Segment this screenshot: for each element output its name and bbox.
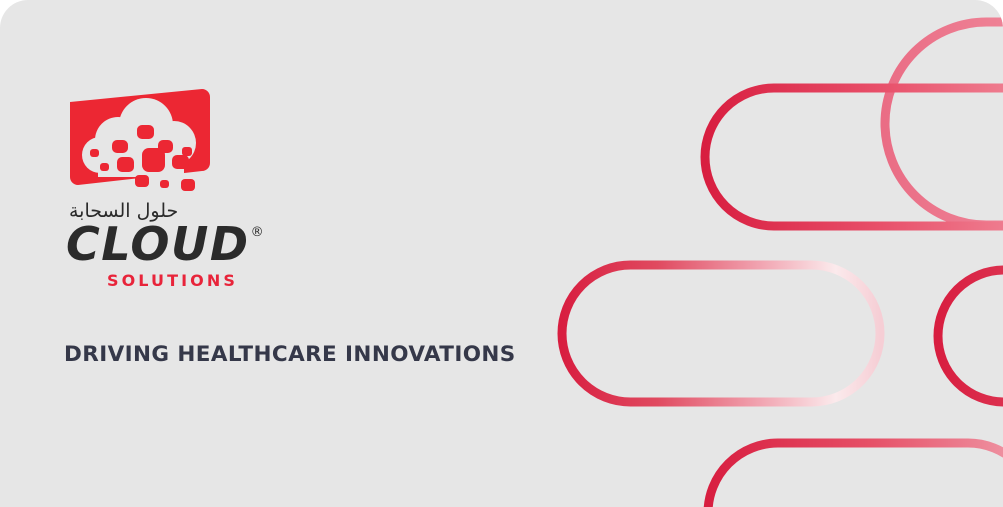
logo-wordmark-row: CLOUD ® [66, 221, 264, 267]
logo-wordmark: CLOUD [66, 221, 250, 267]
pill-right-edge [938, 270, 1003, 402]
registered-trademark-icon: ® [251, 225, 264, 240]
pill-upper [705, 88, 1003, 226]
brand-logo: حلول السحابة CLOUD ® SOLUTIONS [64, 85, 264, 290]
cloud-pixel-logo-icon [64, 85, 224, 205]
pill-middle [562, 265, 880, 402]
hero-banner: حلول السحابة CLOUD ® SOLUTIONS DRIVING H… [0, 0, 1003, 507]
pill-bottom [708, 443, 1003, 507]
logo-sub-wordmark: SOLUTIONS [64, 271, 238, 290]
pill-top-right [885, 22, 1003, 225]
page-title: DRIVING HEALTHCARE INNOVATIONS [64, 342, 516, 367]
